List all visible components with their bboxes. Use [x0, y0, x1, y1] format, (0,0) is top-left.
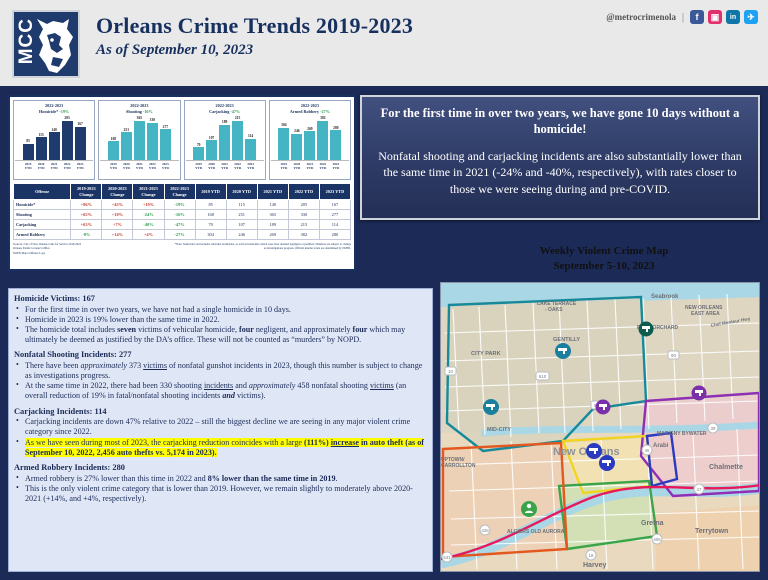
- bar-value: 107: [209, 136, 214, 140]
- chart-shooting-change: -16%: [143, 109, 153, 114]
- twitter-icon[interactable]: ✈: [744, 10, 758, 24]
- highway-label: 90: [671, 353, 676, 358]
- bar-value: 280: [333, 126, 338, 130]
- cell-count: 205: [288, 200, 319, 210]
- col-2022-ytd: 2022 YTD: [288, 184, 319, 200]
- map-label-mid-city: MID-CITY: [487, 427, 511, 433]
- col-2023-ytd: 2023 YTD: [319, 184, 350, 200]
- chart-carjacking-offense: Carjacking: [209, 109, 229, 114]
- cell-change: +7%: [102, 220, 133, 230]
- list-item: There have been approximately 373 victim…: [25, 361, 426, 381]
- cell-change: +14%: [102, 230, 133, 240]
- col-2019-2023: 2019-2023 Change: [71, 184, 102, 200]
- chart-armed-robbery-change: -27%: [320, 109, 330, 114]
- bar-value: 205: [64, 116, 69, 120]
- bar: [317, 121, 328, 161]
- crime-statistics-panel: 2022-2023 Homicide* -19% 85 115 140 205 …: [8, 95, 356, 271]
- cell-offense: Armed Robbery: [14, 230, 71, 240]
- heading-label: Armed Robbery Incidents:: [14, 463, 110, 472]
- cell-count: 85: [195, 200, 226, 210]
- bar: [75, 127, 86, 160]
- map-label-city-park: CITY PARK: [471, 351, 501, 357]
- heading-value: 167: [82, 294, 95, 303]
- x-tick: 2020 YTD: [36, 162, 47, 170]
- bar-value: 382: [320, 116, 325, 120]
- map-label-gretna: Gretna: [641, 520, 664, 527]
- map-label-nola-east-2: EAST AREA: [691, 311, 720, 317]
- chart-carjacking-xaxis: 2019 YTD 2020 YTD 2021 YTD 2022 YTD 2023…: [186, 160, 264, 170]
- bar-column: 85: [23, 116, 34, 160]
- highlight-callout: For the first time in over two years, we…: [360, 95, 760, 220]
- chart-homicide-title: 2022-2023 Homicide* -19%: [15, 103, 93, 114]
- highway-label: 406: [653, 537, 661, 542]
- cell-change: +96%: [71, 200, 102, 210]
- cell-count: 330: [288, 210, 319, 220]
- gun-pin-icon[interactable]: [692, 386, 707, 401]
- bullet-list-shooting: There have been approximately 373 victim…: [14, 361, 426, 402]
- x-tick: 2021 YTD: [134, 162, 145, 170]
- map-label-chalmette: Chalmette: [709, 464, 743, 471]
- cell-change: -8%: [71, 230, 102, 240]
- chart-armed-robbery-years: 2022-2023: [301, 103, 319, 108]
- cell-change: -19%: [164, 200, 195, 210]
- highway-label: 610: [539, 374, 547, 379]
- x-tick: 2021 YTD: [304, 162, 315, 170]
- bar-column: 382: [317, 116, 328, 160]
- bar-value: 70: [197, 143, 201, 147]
- bar-value: 115: [39, 133, 44, 137]
- cell-count: 140: [257, 200, 288, 210]
- map-label-algiers-old-aurora: ALGIERS OLD AURORA: [507, 529, 565, 535]
- page-subtitle: As of September 10, 2023: [96, 42, 413, 59]
- callout-body: Nonfatal shooting and carjacking inciden…: [374, 148, 746, 198]
- heading-label: Nonfatal Shooting Incidents:: [14, 350, 117, 359]
- chart-homicide-bars: 85 115 140 205 167: [15, 116, 93, 160]
- bar-value: 330: [150, 118, 155, 122]
- cell-count: 269: [257, 230, 288, 240]
- heading-value: 114: [95, 407, 107, 416]
- callout-headline: For the first time in over two years, we…: [374, 105, 746, 138]
- chart-homicide-offense: Homicide*: [39, 109, 58, 114]
- x-tick: 2019 YTD: [23, 162, 34, 170]
- chart-armed-robbery: 2022-2023 Armed Robbery -27% 304 246 269…: [269, 100, 351, 180]
- chart-carjacking-bars: 70 107 189 215 114: [186, 116, 264, 160]
- instagram-icon[interactable]: ▣: [708, 10, 722, 24]
- map-label-arabi: Arabi: [653, 443, 669, 449]
- bar: [62, 121, 73, 161]
- bar-value: 167: [77, 122, 82, 126]
- chart-homicide-years: 2022-2023: [45, 103, 63, 108]
- table-row: Homicide* +96% +45% +19% -19% 85 115 140…: [14, 200, 351, 210]
- violent-crime-map[interactable]: 10 610 90 90 39 46 47 428 18 406 541 LAK…: [440, 282, 760, 572]
- cell-change: +19%: [133, 200, 164, 210]
- highway-label: 46: [645, 448, 650, 453]
- col-offense: Offense: [14, 184, 71, 200]
- cell-change: -16%: [164, 210, 195, 220]
- bullet-list-armed-robbery: Armed robbery is 27% lower than this tim…: [14, 474, 426, 505]
- cell-change: -40%: [133, 220, 164, 230]
- bar-column: 246: [291, 116, 302, 160]
- bar-column: 167: [75, 116, 86, 160]
- heading-value: 277: [119, 350, 132, 359]
- chart-armed-robbery-offense: Armed Robbery: [290, 109, 319, 114]
- bar: [232, 121, 243, 161]
- bar-column: 269: [304, 116, 315, 160]
- x-tick: 2023 YTD: [245, 162, 256, 170]
- bar-value: 189: [222, 120, 227, 124]
- bar-value: 215: [235, 116, 240, 120]
- gun-pin-icon[interactable]: [483, 399, 499, 415]
- cell-change: +63%: [71, 220, 102, 230]
- bar: [49, 132, 60, 160]
- gun-pin-icon[interactable]: [555, 343, 571, 359]
- person-pin-icon[interactable]: [521, 501, 537, 517]
- heading-value: 280: [112, 463, 125, 472]
- bar-column: 189: [219, 116, 230, 160]
- charts-row: 2022-2023 Homicide* -19% 85 115 140 205 …: [13, 100, 351, 180]
- chart-armed-robbery-bars: 304 246 269 382 280: [271, 116, 349, 160]
- cell-count: 107: [226, 220, 257, 230]
- chart-armed-robbery-title: 2022-2023 Armed Robbery -27%: [271, 103, 349, 114]
- cell-offense: Carjacking: [14, 220, 71, 230]
- bar-value: 85: [26, 139, 30, 143]
- col-2019-ytd: 2019 YTD: [195, 184, 226, 200]
- gun-pin-icon[interactable]: [599, 455, 615, 471]
- linkedin-icon[interactable]: in: [726, 10, 740, 24]
- bar-column: 140: [49, 116, 60, 160]
- bar-value: 140: [51, 128, 56, 132]
- bar-column: 215: [232, 116, 243, 160]
- bar-column: 280: [330, 116, 341, 160]
- list-item: Armed robbery is 27% lower than this tim…: [25, 474, 426, 484]
- map-label-seabrook: Seabrook: [651, 294, 679, 300]
- x-tick: 2019 YTD: [278, 162, 289, 170]
- x-tick: 2022 YTD: [317, 162, 328, 170]
- note-line-3: Official murder totals are determined by…: [295, 246, 351, 250]
- bar: [36, 137, 47, 160]
- chart-carjacking-years: 2022-2023: [216, 103, 234, 108]
- chart-shooting-years: 2022-2023: [130, 103, 148, 108]
- sources-note: Sources: City of New Orleans Calls for S…: [13, 242, 172, 255]
- cell-change: +10%: [102, 210, 133, 220]
- map-label-terrytown: Terrytown: [695, 528, 728, 535]
- facebook-icon[interactable]: f: [690, 10, 704, 24]
- gun-pin-icon[interactable]: [639, 322, 654, 337]
- table-footnotes: Sources: City of New Orleans Calls for S…: [13, 242, 351, 255]
- bar-column: 70: [193, 116, 204, 160]
- bar: [193, 147, 204, 160]
- list-item: This is the only violent crime category …: [25, 484, 426, 504]
- list-item: The homicide total includes seven victim…: [25, 325, 426, 345]
- heading-label: Carjacking Incidents:: [14, 407, 92, 416]
- x-tick: 2023 YTD: [330, 162, 341, 170]
- cell-count: 280: [319, 230, 350, 240]
- bar-value: 114: [248, 134, 253, 138]
- bar: [147, 123, 158, 160]
- bar-value: 246: [294, 129, 299, 133]
- mcc-wolf-logo: MCC: [12, 10, 80, 78]
- instagram-glyph: ▣: [711, 12, 720, 23]
- section-heading-shooting: Nonfatal Shooting Incidents: 277: [14, 350, 426, 361]
- bar-column: 330: [147, 116, 158, 160]
- table-row: Armed Robbery -8% +14% +4% -27% 304 246 …: [14, 230, 351, 240]
- cell-count: 365: [257, 210, 288, 220]
- linkedin-glyph: in: [730, 14, 736, 21]
- bar-column: 107: [206, 116, 217, 160]
- chart-homicide-xaxis: 2019 YTD 2020 YTD 2021 YTD 2022 YTD 2023…: [15, 160, 93, 170]
- chart-armed-robbery-xaxis: 2019 YTD 2020 YTD 2021 YTD 2022 YTD 2023…: [271, 160, 349, 170]
- list-item: Homicide in 2023 is 19% lower than the s…: [25, 315, 426, 325]
- facebook-glyph: f: [696, 12, 699, 22]
- bar-value: 365: [137, 116, 142, 120]
- cell-change: +65%: [71, 210, 102, 220]
- bar: [304, 131, 315, 160]
- cell-count: 251: [226, 210, 257, 220]
- homicide-note: *Note: homicide total includes vehicular…: [172, 242, 351, 255]
- map-label-marigny-bywater: MARIGNY BYWATER: [657, 431, 707, 437]
- highway-label: 428: [481, 528, 489, 533]
- bar: [206, 140, 217, 160]
- social-handle: @metrocrimenola: [606, 12, 676, 22]
- page-header: MCC Orleans Crime Trends 2019-2023 As of…: [0, 0, 768, 88]
- page-title: Orleans Crime Trends 2019-2023: [96, 14, 413, 38]
- chart-shooting: 2022-2023 Shooting -16% 168 251 365 330 …: [98, 100, 180, 180]
- bar: [278, 128, 289, 161]
- bar: [330, 130, 341, 160]
- chart-shooting-title: 2022-2023 Shooting -16%: [100, 103, 178, 114]
- cell-change: -27%: [164, 230, 195, 240]
- bullet-list-carjacking: Carjacking incidents are down 47% relati…: [14, 417, 426, 458]
- bar: [291, 134, 302, 160]
- table-row: Carjacking +63% +7% -40% -47% 70 107 189…: [14, 220, 351, 230]
- map-label-carrollton: CARROLLTON: [441, 463, 476, 469]
- cell-count: 304: [195, 230, 226, 240]
- map-title-line1: Weekly Violent Crime Map: [440, 244, 768, 259]
- col-2020-ytd: 2020 YTD: [226, 184, 257, 200]
- cell-count: 168: [195, 210, 226, 220]
- x-tick: 2021 YTD: [49, 162, 60, 170]
- chart-carjacking-change: -47%: [230, 109, 240, 114]
- cell-count: 167: [319, 200, 350, 210]
- bullet-list-homicide: For the first time in over two years, we…: [14, 305, 426, 346]
- col-2020-2023: 2020-2023 Change: [102, 184, 133, 200]
- cell-count: 215: [288, 220, 319, 230]
- table-header-row: Offense 2019-2023 Change 2020-2023 Chang…: [14, 184, 351, 200]
- col-2021-2023: 2021-2023 Change: [133, 184, 164, 200]
- highway-label: 39: [711, 426, 716, 431]
- gun-pin-icon[interactable]: [596, 400, 611, 415]
- chart-homicide-change: -19%: [59, 109, 69, 114]
- bar: [23, 144, 34, 161]
- map-title-line2: September 5-10, 2023: [440, 259, 768, 274]
- x-tick: 2019 YTD: [193, 162, 204, 170]
- bar: [134, 121, 145, 161]
- bar-column: 304: [278, 116, 289, 160]
- chart-carjacking-title: 2022-2023 Carjacking -47%: [186, 103, 264, 114]
- col-2022-2023: 2022-2023 Change: [164, 184, 195, 200]
- cell-count: 189: [257, 220, 288, 230]
- x-tick: 2019 YTD: [108, 162, 119, 170]
- x-tick: 2021 YTD: [219, 162, 230, 170]
- map-label-gentilly: GENTILLY: [553, 337, 580, 343]
- section-heading-armed-robbery: Armed Robbery Incidents: 280: [14, 463, 426, 474]
- bar: [245, 139, 256, 161]
- highway-label: 18: [589, 553, 594, 558]
- list-item: Carjacking incidents are down 47% relati…: [25, 417, 426, 437]
- list-item: For the first time in over two years, we…: [25, 305, 426, 315]
- bar-value: 304: [281, 123, 286, 127]
- section-heading-homicide: Homicide Victims: 167: [14, 294, 426, 305]
- cell-count: 115: [226, 200, 257, 210]
- social-separator: |: [682, 12, 684, 23]
- chart-homicide: 2022-2023 Homicide* -19% 85 115 140 205 …: [13, 100, 95, 180]
- cell-offense: Homicide*: [14, 200, 71, 210]
- twitter-glyph: ✈: [747, 12, 755, 23]
- cell-offense: Shooting: [14, 210, 71, 220]
- bar-column: 168: [108, 116, 119, 160]
- bar-column: 365: [134, 116, 145, 160]
- title-block: Orleans Crime Trends 2019-2023 As of Sep…: [96, 14, 413, 59]
- map-label-harvey: Harvey: [583, 562, 606, 569]
- chart-shooting-offense: Shooting: [126, 109, 142, 114]
- bar-value: 168: [111, 137, 116, 141]
- bar: [108, 141, 119, 160]
- bar-column: 251: [121, 116, 132, 160]
- col-2021-ytd: 2021 YTD: [257, 184, 288, 200]
- cell-change: +45%: [102, 200, 133, 210]
- x-tick: 2020 YTD: [206, 162, 217, 170]
- heading-label: Homicide Victims:: [14, 294, 80, 303]
- highway-label: 541: [443, 555, 451, 560]
- bar-column: 277: [160, 116, 171, 160]
- bar: [219, 125, 230, 161]
- map-title: Weekly Violent Crime Map September 5-10,…: [440, 244, 768, 274]
- x-tick: 2020 YTD: [121, 162, 132, 170]
- x-tick: 2022 YTD: [147, 162, 158, 170]
- bar-value: 251: [124, 128, 129, 132]
- highway-label: 10: [448, 369, 453, 374]
- bar-column: 114: [245, 116, 256, 160]
- cell-change: -47%: [164, 220, 195, 230]
- bar-value: 269: [307, 127, 312, 131]
- cell-count: 277: [319, 210, 350, 220]
- bar-column: 205: [62, 116, 73, 160]
- bar: [160, 129, 171, 160]
- chart-shooting-xaxis: 2019 YTD 2020 YTD 2021 YTD 2022 YTD 2023…: [100, 160, 178, 170]
- cell-change: +4%: [133, 230, 164, 240]
- narrative-panel: Homicide Victims: 167 For the first time…: [8, 288, 433, 572]
- crime-comparison-table: Offense 2019-2023 Change 2020-2023 Chang…: [13, 183, 351, 240]
- x-tick: 2022 YTD: [232, 162, 243, 170]
- cell-count: 70: [195, 220, 226, 230]
- bar-column: 115: [36, 116, 47, 160]
- cell-count: 114: [319, 220, 350, 230]
- highway-label: 47: [697, 487, 702, 492]
- map-label-oaks: - OAKS: [545, 307, 563, 313]
- gun-pin-icon[interactable]: [586, 443, 602, 459]
- chart-carjacking: 2022-2023 Carjacking -47% 70 107 189 215…: [184, 100, 266, 180]
- cell-count: 246: [226, 230, 257, 240]
- x-tick: 2020 YTD: [291, 162, 302, 170]
- x-tick: 2023 YTD: [160, 162, 171, 170]
- map-canvas[interactable]: 10 610 90 90 39 46 47 428 18 406 541 LAK…: [441, 283, 760, 572]
- section-heading-carjacking: Carjacking Incidents: 114: [14, 407, 426, 418]
- social-links: @metrocrimenola | f ▣ in ✈: [606, 10, 758, 24]
- x-tick: 2022 YTD: [62, 162, 73, 170]
- chart-shooting-bars: 168 251 365 330 277: [100, 116, 178, 160]
- table-row: Shooting +65% +10% -24% -16% 168 251 365…: [14, 210, 351, 220]
- bar-value: 277: [163, 125, 168, 129]
- wolf-head-icon: [33, 15, 77, 77]
- bar: [121, 132, 132, 160]
- cell-count: 382: [288, 230, 319, 240]
- cell-change: -24%: [133, 210, 164, 220]
- list-item: At the same time in 2022, there had been…: [25, 381, 426, 401]
- list-item: As we have seen during most of 2023, the…: [25, 438, 426, 458]
- x-tick: 2023 YTD: [75, 162, 86, 170]
